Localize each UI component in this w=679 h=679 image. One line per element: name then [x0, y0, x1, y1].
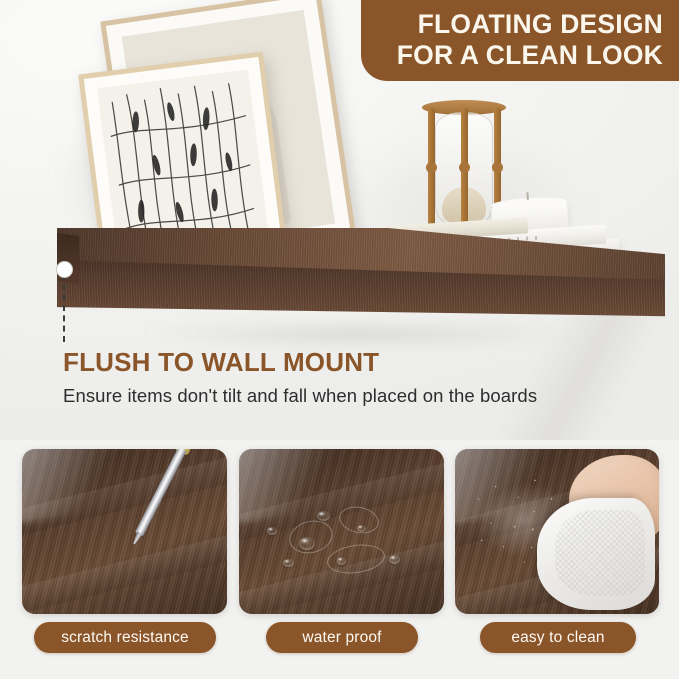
water-droplet	[389, 555, 400, 564]
banner-line-2: FOR A CLEAN LOOK	[397, 40, 663, 71]
feature-label-water-proof: water proof	[266, 622, 418, 653]
cleaning-cloth	[537, 498, 655, 610]
page-subtitle: Ensure items don't tilt and fall when pl…	[63, 384, 663, 407]
water-droplet	[267, 527, 277, 535]
feature-label-scratch-resistance: scratch resistance	[34, 622, 216, 653]
hourglass-knob-mid	[459, 162, 470, 173]
feature-label-easy-to-clean: easy to clean	[480, 622, 636, 653]
banner-line-1: FLOATING DESIGN	[418, 9, 663, 40]
floating-shelf	[57, 228, 665, 346]
callout-text-block: FLUSH TO WALL MOUNT Ensure items don't t…	[63, 348, 663, 407]
hourglass-knob-right	[492, 162, 503, 173]
screwdriver-tip	[131, 531, 142, 545]
candle-wick	[526, 192, 528, 200]
water-droplet	[317, 511, 330, 521]
feature-image-easy-to-clean	[455, 449, 659, 614]
feature-image-scratch-resistance	[22, 449, 227, 614]
feature-image-water-proof	[239, 449, 444, 614]
product-feature-infographic: FLOATING DESIGN FOR A CLEAN LOOK FLUSH T…	[0, 0, 679, 679]
dashed-leader-line-icon	[63, 274, 65, 342]
page-title: FLUSH TO WALL MOUNT	[63, 348, 663, 377]
callout-dot-icon	[56, 261, 73, 278]
water-droplet	[283, 559, 294, 567]
cloth-texture	[555, 510, 645, 596]
hourglass-knob-left	[426, 162, 437, 173]
header-banner: FLOATING DESIGN FOR A CLEAN LOOK	[361, 0, 679, 81]
